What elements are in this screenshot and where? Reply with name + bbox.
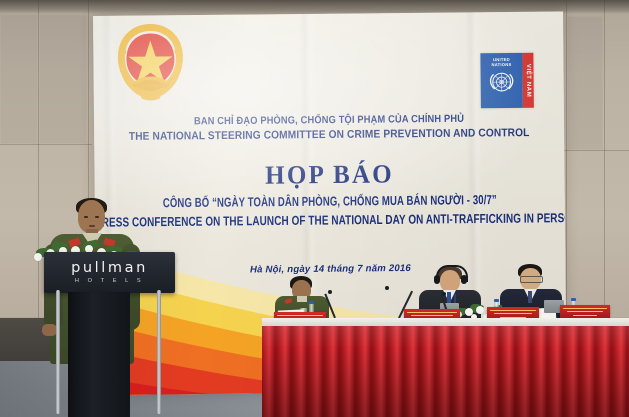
lectern-podium: pullman H O T E L S: [44, 252, 175, 417]
wall-seam: [0, 144, 92, 145]
banner-subtitle-en: PRESS CONFERENCE ON THE LAUNCH OF THE NA…: [95, 212, 565, 231]
united-nations-vietnam-logo: UNITED NATIONS VIỆT NAM: [480, 53, 534, 109]
podium-front-panel: pullman H O T E L S: [44, 252, 175, 293]
water-bottle-cap: [571, 298, 576, 301]
water-bottle-cap: [309, 301, 314, 304]
banner-headline: HỌP BÁO: [94, 159, 564, 193]
banner-organization-en: THE NATIONAL STEERING COMMITTEE ON CRIME…: [94, 127, 564, 144]
headphone-cup-left: [434, 275, 440, 284]
microphone-head-right: [442, 292, 446, 296]
un-logo-country-band: VIỆT NAM: [522, 53, 534, 108]
banner-subtitle-vi: CÔNG BỐ “NGÀY TOÀN DÂN PHÒNG, CHỐNG MUA …: [95, 193, 565, 212]
panel-table: [262, 318, 629, 417]
wall-panel: [39, 14, 87, 144]
wall-seam: [604, 0, 605, 330]
microphone-head-center: [385, 286, 389, 290]
podium-leg-left: [56, 290, 60, 414]
podium-leg-right: [157, 290, 161, 414]
panelist-right-tie: [528, 291, 532, 303]
microphone-head-left: [328, 290, 332, 294]
headphone-cup-right: [461, 275, 467, 284]
podium-column: [68, 292, 130, 417]
un-globe-wreath-icon: [488, 68, 516, 101]
un-logo-word-2: NATIONS: [491, 62, 511, 67]
table-skirt-shading: [262, 326, 629, 417]
wall-seam: [560, 150, 629, 151]
nameplate-far-right: [560, 305, 610, 318]
podium-brand-label: pullman: [44, 260, 175, 276]
un-logo-blue-block: UNITED NATIONS: [480, 53, 523, 108]
national-emblem-of-vietnam-icon: [113, 23, 188, 106]
water-bottle-cap: [494, 299, 499, 302]
wall-panel: [0, 14, 38, 144]
banner-organization-vi: BAN CHỈ ĐẠO PHÒNG, CHỐNG TỘI PHẠM CỦA CH…: [94, 112, 564, 128]
eyeglasses-icon: [520, 276, 543, 283]
un-logo-country-label: VIỆT NAM: [525, 64, 531, 98]
press-conference-photo: UNITED NATIONS VIỆT NAM BAN CH: [0, 0, 629, 417]
panelist-left-collar: [297, 296, 307, 302]
wall-panel: [567, 16, 603, 150]
podium-brand-sublabel: H O T E L S: [44, 278, 175, 284]
